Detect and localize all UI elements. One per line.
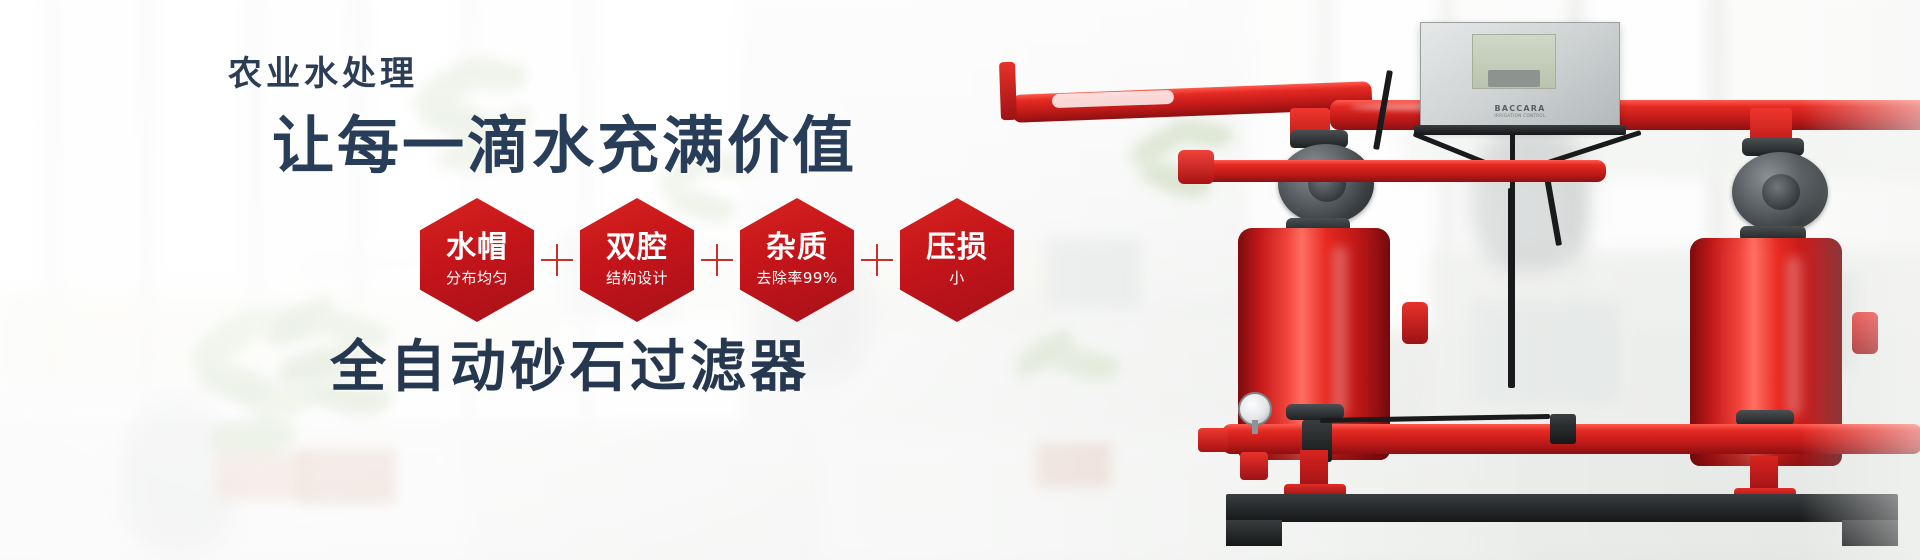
feature-hex-1-title: 水帽: [446, 232, 508, 264]
mid-cross-pipe: [1186, 160, 1606, 182]
tank-right-side-port: [1852, 312, 1878, 354]
feature-hex-2-subtitle: 结构设计: [606, 267, 668, 288]
feature-hex-2: 双腔 结构设计: [580, 198, 694, 322]
cable-right-drop: [1544, 176, 1562, 246]
air-relief-valve: [1178, 150, 1214, 184]
skid-foot-left: [1226, 520, 1282, 546]
controller-box: BACCARA IRRIGATION CONTROL: [1420, 22, 1620, 130]
plus-separator-3-icon: [854, 237, 900, 283]
cable-vertical-main: [1508, 188, 1515, 388]
feature-hex-4: 压损 小: [900, 198, 1014, 322]
banner-eyebrow: 农业水处理: [228, 46, 418, 95]
banner-product-name: 全自动砂石过滤器: [330, 322, 810, 403]
outlet-end-cap: [1198, 428, 1228, 452]
manifold-clamp-center: [1550, 414, 1576, 444]
feature-hex-1: 水帽 分布均匀: [420, 198, 534, 322]
drain-port: [1240, 452, 1268, 480]
gauge-stem: [1252, 420, 1258, 434]
plus-separator-1-icon: [534, 237, 580, 283]
feature-hex-4-subtitle: 小: [949, 267, 965, 288]
tank-left-side-port: [1402, 302, 1428, 344]
feature-hexagon-row: 水帽 分布均匀 双腔 结构设计 杂质 去除率99% 压损 小: [420, 198, 1014, 322]
feature-hex-3-title: 杂质: [766, 232, 828, 264]
feature-hex-4-title: 压损: [926, 232, 988, 264]
controller-brand-label: BACCARA IRRIGATION CONTROL: [1421, 104, 1619, 118]
controller-bracket: [1414, 125, 1626, 135]
base-skid: [1226, 494, 1898, 522]
sand-filter-equipment-photo: BACCARA IRRIGATION CONTROL: [990, 0, 1920, 560]
banner-copy: 农业水处理 让每一滴水充满价值 水帽 分布均匀 双腔 结构设计 杂质 去除率99…: [0, 0, 1060, 560]
right-valve-cap: [1762, 174, 1800, 210]
promo-banner: BACCARA IRRIGATION CONTROL: [0, 0, 1920, 560]
feature-hex-1-subtitle: 分布均匀: [446, 267, 508, 288]
feature-hex-3-subtitle: 去除率99%: [756, 267, 837, 288]
banner-headline: 让每一滴水充满价值: [272, 95, 857, 185]
feature-hex-3: 杂质 去除率99%: [740, 198, 854, 322]
controller-knob: [1488, 70, 1539, 87]
plus-separator-2-icon: [694, 237, 740, 283]
skid-foot-right: [1842, 520, 1898, 546]
feature-hex-2-title: 双腔: [606, 232, 668, 264]
